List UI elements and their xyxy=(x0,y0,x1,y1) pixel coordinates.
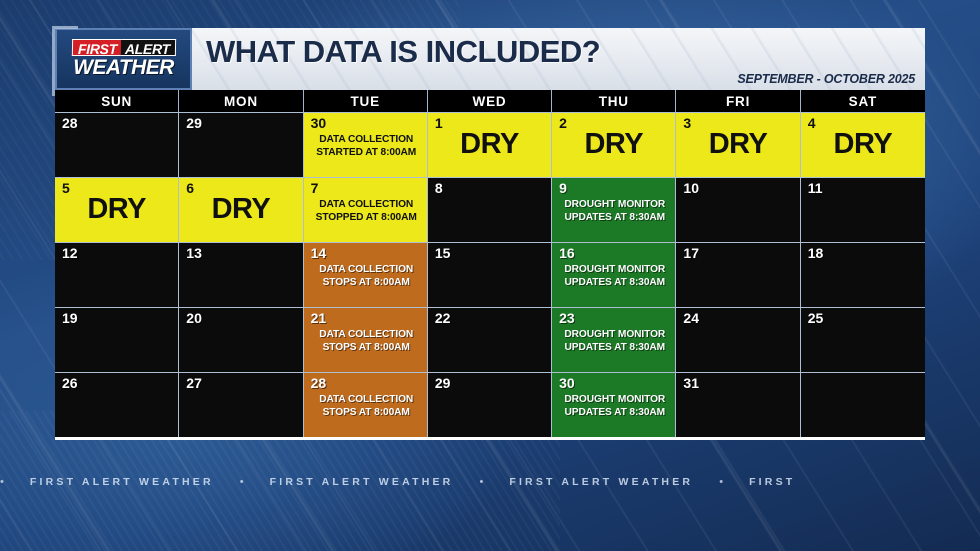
day-number: 29 xyxy=(186,116,297,131)
calendar-day-cell-4[interactable]: 4DRY xyxy=(801,112,925,177)
calendar-day-cell-16[interactable]: 16DROUGHT MONITOR UPDATES AT 8:30AM xyxy=(552,242,676,307)
calendar-day-header-sun: SUN xyxy=(55,90,179,112)
day-number: 17 xyxy=(683,246,794,261)
calendar-day-cell-29[interactable]: 29 xyxy=(428,372,552,437)
day-number: 25 xyxy=(808,311,920,326)
calendar-day-cell-3[interactable]: 3DRY xyxy=(676,112,800,177)
dry-label: DRY xyxy=(552,127,675,161)
calendar-day-cell-31[interactable]: 31 xyxy=(676,372,800,437)
dry-label: DRY xyxy=(179,192,302,226)
calendar-day-cell-18[interactable]: 18 xyxy=(801,242,925,307)
calendar-day-cell-28[interactable]: 28 xyxy=(55,112,179,177)
calendar-day-header-fri: FRI xyxy=(676,90,800,112)
date-range-subtitle: SEPTEMBER - OCTOBER 2025 xyxy=(737,72,915,86)
calendar-day-cell-8[interactable]: 8 xyxy=(428,177,552,242)
day-number: 30 xyxy=(559,376,670,391)
calendar-week-row: 192021DATA COLLECTION STOPS AT 8:00AM222… xyxy=(55,307,925,372)
calendar-day-cell-28[interactable]: 28DATA COLLECTION STOPS AT 8:00AM xyxy=(304,372,428,437)
day-note: DATA COLLECTION STOPS AT 8:00AM xyxy=(311,264,422,289)
day-number: 21 xyxy=(311,311,422,326)
day-number: 7 xyxy=(311,181,422,196)
calendar: SUNMONTUEWEDTHUFRISAT 282930DATA COLLECT… xyxy=(55,90,925,440)
day-note: DROUGHT MONITOR UPDATES AT 8:30AM xyxy=(559,394,670,419)
calendar-day-cell-9[interactable]: 9DROUGHT MONITOR UPDATES AT 8:30AM xyxy=(552,177,676,242)
calendar-day-cell-10[interactable]: 10 xyxy=(676,177,800,242)
page-title: WHAT DATA IS INCLUDED? xyxy=(206,34,600,70)
day-number: 16 xyxy=(559,246,670,261)
calendar-day-cell-1[interactable]: 1DRY xyxy=(428,112,552,177)
logo-bracket-decoration xyxy=(52,26,78,96)
day-number: 22 xyxy=(435,311,546,326)
dry-label: DRY xyxy=(801,127,925,161)
calendar-day-cell-24[interactable]: 24 xyxy=(676,307,800,372)
calendar-day-cell-empty[interactable] xyxy=(801,372,925,437)
weather-graphic-screen: FIRST ALERT WEATHER WHAT DATA IS INCLUDE… xyxy=(0,0,980,551)
logo-first-text: FIRST xyxy=(71,39,120,56)
dry-label: DRY xyxy=(55,192,178,226)
calendar-day-cell-26[interactable]: 26 xyxy=(55,372,179,437)
logo-alert-text: ALERT xyxy=(120,39,175,56)
day-number: 28 xyxy=(62,116,173,131)
logo-weather-text: WEATHER xyxy=(73,57,173,79)
calendar-day-cell-25[interactable]: 25 xyxy=(801,307,925,372)
title-plate: WHAT DATA IS INCLUDED? SEPTEMBER - OCTOB… xyxy=(192,28,925,90)
calendar-day-header-mon: MON xyxy=(179,90,303,112)
calendar-day-header-row: SUNMONTUEWEDTHUFRISAT xyxy=(55,90,925,112)
calendar-day-cell-12[interactable]: 12 xyxy=(55,242,179,307)
day-number: 26 xyxy=(62,376,173,391)
day-number: 9 xyxy=(559,181,670,196)
calendar-day-cell-22[interactable]: 22 xyxy=(428,307,552,372)
ticker-item: FIRST ALERT WEATHER xyxy=(4,476,240,488)
ticker-item: FIRST ALERT WEATHER xyxy=(483,476,719,488)
calendar-day-cell-11[interactable]: 11 xyxy=(801,177,925,242)
day-note: DATA COLLECTION STARTED AT 8:00AM xyxy=(311,134,422,159)
calendar-day-cell-20[interactable]: 20 xyxy=(179,307,303,372)
logo-top-row: FIRST ALERT xyxy=(71,39,175,56)
ticker-item: FIRST xyxy=(723,476,821,488)
calendar-day-cell-21[interactable]: 21DATA COLLECTION STOPS AT 8:00AM xyxy=(304,307,428,372)
day-number: 23 xyxy=(559,311,670,326)
calendar-day-cell-15[interactable]: 15 xyxy=(428,242,552,307)
calendar-week-row: 121314DATA COLLECTION STOPS AT 8:00AM151… xyxy=(55,242,925,307)
day-number: 14 xyxy=(311,246,422,261)
calendar-day-cell-27[interactable]: 27 xyxy=(179,372,303,437)
day-number: 13 xyxy=(186,246,297,261)
calendar-day-cell-17[interactable]: 17 xyxy=(676,242,800,307)
calendar-day-cell-13[interactable]: 13 xyxy=(179,242,303,307)
day-note: DATA COLLECTION STOPS AT 8:00AM xyxy=(311,394,422,419)
ticker-item: FIRST ALERT WEATHER xyxy=(244,476,480,488)
first-alert-weather-logo: FIRST ALERT WEATHER xyxy=(55,28,192,90)
calendar-week-row: 262728DATA COLLECTION STOPS AT 8:00AM293… xyxy=(55,372,925,437)
bottom-ticker: •FIRST ALERT WEATHER•FIRST ALERT WEATHER… xyxy=(0,470,980,494)
day-number: 27 xyxy=(186,376,297,391)
calendar-day-cell-7[interactable]: 7DATA COLLECTION STOPPED AT 8:00AM xyxy=(304,177,428,242)
calendar-day-header-tue: TUE xyxy=(304,90,428,112)
calendar-day-cell-30[interactable]: 30DATA COLLECTION STARTED AT 8:00AM xyxy=(304,112,428,177)
day-note: DATA COLLECTION STOPPED AT 8:00AM xyxy=(311,199,422,224)
day-number: 19 xyxy=(62,311,173,326)
day-number: 12 xyxy=(62,246,173,261)
calendar-day-cell-23[interactable]: 23DROUGHT MONITOR UPDATES AT 8:30AM xyxy=(552,307,676,372)
calendar-day-cell-30[interactable]: 30DROUGHT MONITOR UPDATES AT 8:30AM xyxy=(552,372,676,437)
calendar-day-header-sat: SAT xyxy=(801,90,925,112)
calendar-weeks: 282930DATA COLLECTION STARTED AT 8:00AM1… xyxy=(55,112,925,437)
calendar-day-cell-6[interactable]: 6DRY xyxy=(179,177,303,242)
day-number: 31 xyxy=(683,376,794,391)
calendar-day-header-wed: WED xyxy=(428,90,552,112)
day-note: DROUGHT MONITOR UPDATES AT 8:30AM xyxy=(559,329,670,354)
calendar-day-cell-5[interactable]: 5DRY xyxy=(55,177,179,242)
day-note: DATA COLLECTION STOPS AT 8:00AM xyxy=(311,329,422,354)
calendar-week-row: 282930DATA COLLECTION STARTED AT 8:00AM1… xyxy=(55,112,925,177)
calendar-day-cell-29[interactable]: 29 xyxy=(179,112,303,177)
day-number: 18 xyxy=(808,246,920,261)
day-number: 11 xyxy=(808,181,920,196)
day-note: DROUGHT MONITOR UPDATES AT 8:30AM xyxy=(559,199,670,224)
day-note: DROUGHT MONITOR UPDATES AT 8:30AM xyxy=(559,264,670,289)
calendar-day-header-thu: THU xyxy=(552,90,676,112)
calendar-week-row: 5DRY6DRY7DATA COLLECTION STOPPED AT 8:00… xyxy=(55,177,925,242)
day-number: 29 xyxy=(435,376,546,391)
dry-label: DRY xyxy=(428,127,551,161)
day-number: 8 xyxy=(435,181,546,196)
day-number: 20 xyxy=(186,311,297,326)
day-number: 24 xyxy=(683,311,794,326)
day-number: 10 xyxy=(683,181,794,196)
dry-label: DRY xyxy=(676,127,799,161)
day-number: 15 xyxy=(435,246,546,261)
calendar-day-cell-2[interactable]: 2DRY xyxy=(552,112,676,177)
graphic-header: FIRST ALERT WEATHER WHAT DATA IS INCLUDE… xyxy=(55,28,925,90)
calendar-day-cell-14[interactable]: 14DATA COLLECTION STOPS AT 8:00AM xyxy=(304,242,428,307)
day-number: 28 xyxy=(311,376,422,391)
calendar-day-cell-19[interactable]: 19 xyxy=(55,307,179,372)
day-number: 30 xyxy=(311,116,422,131)
